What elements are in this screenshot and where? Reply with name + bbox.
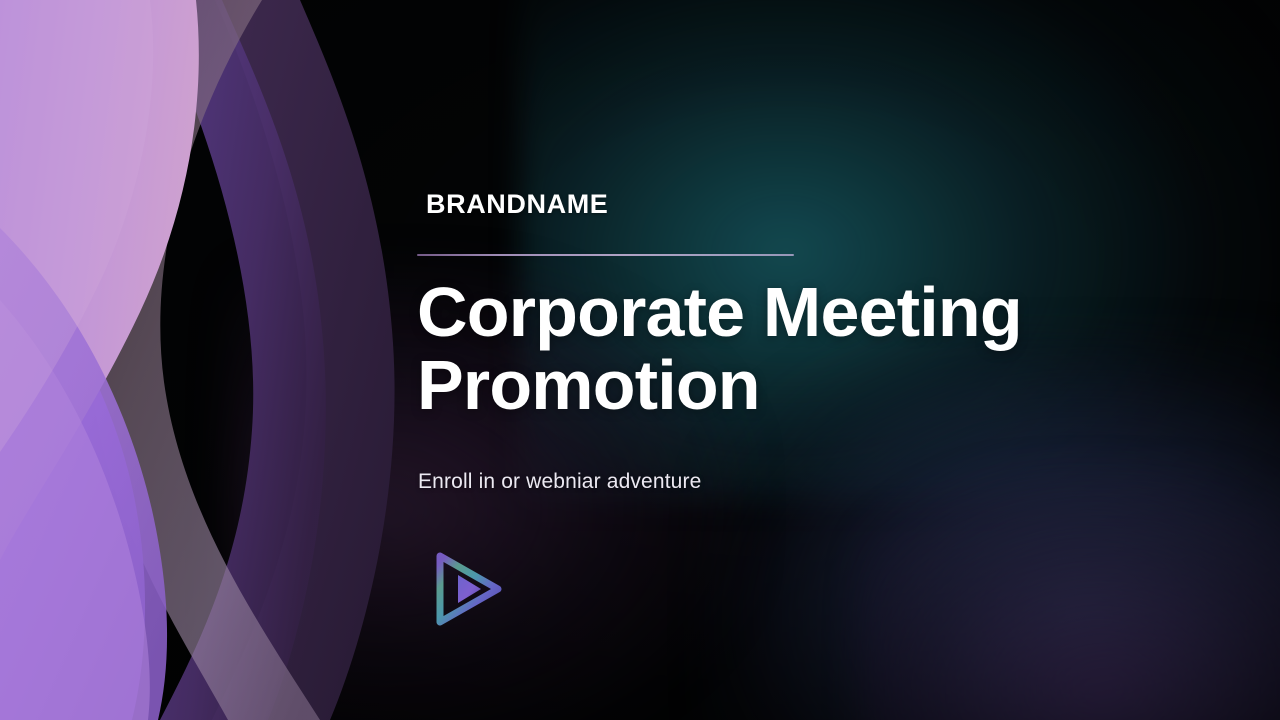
page-title: Corporate Meeting Promotion <box>417 276 1197 422</box>
headline-line-2: Promotion <box>417 349 1197 422</box>
content-column: BRANDNAME Corporate Meeting Promotion En… <box>417 0 1207 720</box>
promo-slide: BRANDNAME Corporate Meeting Promotion En… <box>0 0 1280 720</box>
brand-name: BRANDNAME <box>426 191 608 218</box>
wave-decoration <box>0 0 460 720</box>
play-triangle-icon <box>429 548 509 630</box>
title-divider <box>417 254 794 256</box>
subtitle: Enroll in or webniar adventure <box>418 469 702 494</box>
play-button[interactable] <box>429 548 509 630</box>
headline-line-1: Corporate Meeting <box>417 276 1197 349</box>
